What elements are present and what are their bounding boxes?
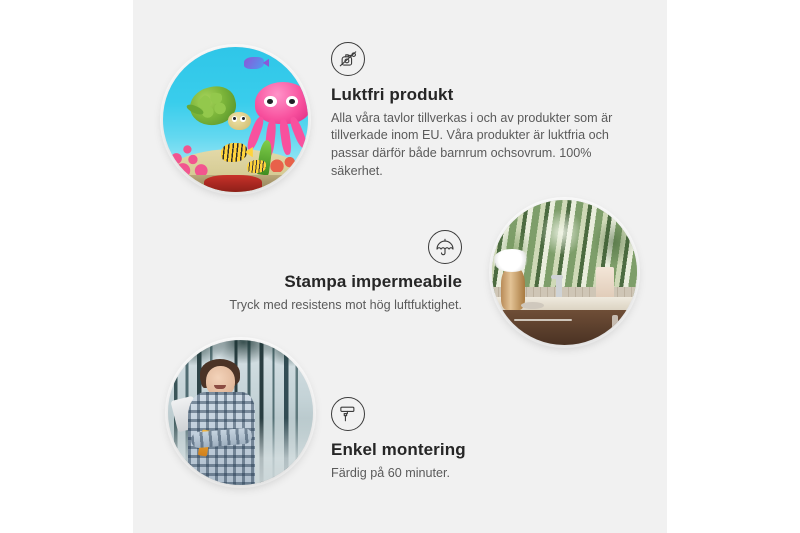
image-underwater-kids-mural [163,47,308,192]
feature-body: Färdig på 60 minuter. [331,465,591,483]
icon-wrap [212,230,462,264]
forest-canopy [168,340,313,389]
icon-wrap [331,42,631,76]
turtle-eye [232,116,238,122]
pink-coral [169,131,215,177]
no-perfume-icon [331,42,365,76]
purple-fish [244,57,264,69]
promo-page: Luktfri produkt Alla våra tavlor tillver… [0,0,800,533]
sea-turtle [186,85,250,131]
turtle-head [228,112,251,131]
orange-coral [265,143,306,172]
image-woman-paint-roller-forest [168,340,313,485]
turtle-eye [240,116,246,122]
octopus-eye [286,96,298,107]
forest-scene [168,340,313,485]
feature-waterproof: Stampa impermeabile Tryck med resistens … [212,230,462,314]
feature-title: Luktfri produkt [331,85,631,105]
icon-wrap [331,397,591,431]
feature-easy-mounting: Enkel montering Färdig på 60 minuter. [331,397,591,482]
paint-roller-icon [331,397,365,431]
striped-fish-small [247,160,266,173]
octopus-eye [264,96,276,107]
feature-odourless: Luktfri produkt Alla våra tavlor tillver… [331,42,631,181]
underwater-scene [163,47,308,192]
umbrella-icon [428,230,462,264]
soap-dish [521,302,544,309]
feature-title: Stampa impermeabile [212,272,462,292]
red-shipwreck [204,175,262,192]
striped-fish [221,143,247,162]
feature-title: Enkel montering [331,440,591,460]
image-bathroom-tropical-wallpaper [492,200,637,345]
feature-body: Tryck med resistens mot hög luftfuktighe… [212,297,462,315]
feature-body: Alla våra tavlor tillverkas i och av pro… [331,110,631,182]
bathroom-scene [492,200,637,345]
vanity-cabinet [501,310,637,345]
